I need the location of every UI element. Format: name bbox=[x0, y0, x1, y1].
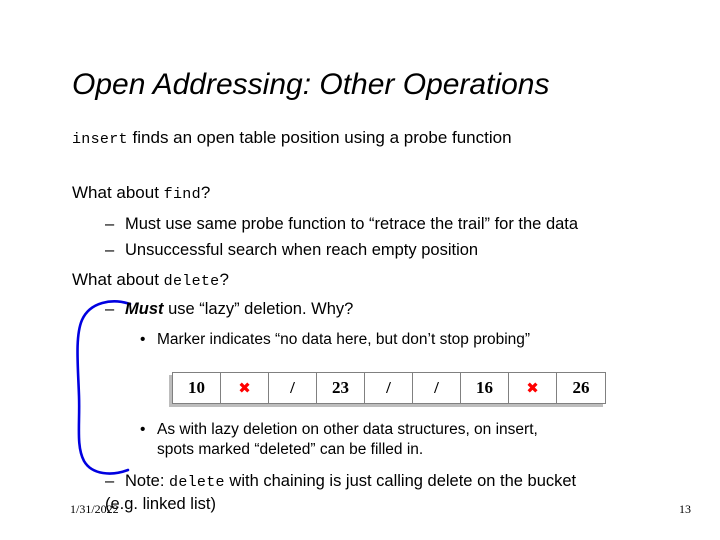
line-find-suffix: ? bbox=[201, 183, 210, 202]
hash-table-figure: 10 ✖ / 23 / / 16 ✖ 26 bbox=[172, 372, 606, 404]
page-title: Open Addressing: Other Operations bbox=[72, 68, 672, 103]
bullet-marker-indicates: •Marker indicates “no data here, but don… bbox=[140, 331, 530, 349]
bullet-must-lazy-deletion: –Must use “lazy” deletion. Why? bbox=[105, 300, 353, 319]
bullet-marker-indicates-text: Marker indicates “no data here, but don’… bbox=[157, 331, 530, 348]
line-insert: insert finds an open table position usin… bbox=[72, 128, 512, 149]
dash-icon: – bbox=[105, 215, 125, 234]
bullet-note-line2: (e.g. linked list) bbox=[105, 495, 216, 514]
bullet-note-line2-text: (e.g. linked list) bbox=[105, 495, 216, 513]
blue-bracket-annotation bbox=[72, 296, 142, 486]
bullet-lazy-line2-text: spots marked “deleted” can be filled in. bbox=[157, 441, 423, 458]
dash-icon: – bbox=[105, 300, 125, 319]
line-delete-suffix: ? bbox=[219, 270, 228, 289]
hash-cell-deleted-marker: ✖ bbox=[509, 373, 557, 403]
line-find-prefix: What about bbox=[72, 183, 164, 202]
bullet-dot-icon: • bbox=[140, 421, 157, 439]
code-find: find bbox=[164, 186, 201, 203]
code-delete-chaining: delete bbox=[169, 474, 225, 491]
emphasis-must: Must bbox=[125, 300, 164, 318]
bullet-note-suffix: with chaining is just calling delete on … bbox=[225, 472, 576, 490]
footer-date: 1/31/2022 bbox=[70, 502, 119, 517]
line-find: What about find? bbox=[72, 183, 210, 204]
bullet-note-chaining: –Note: delete with chaining is just call… bbox=[105, 472, 576, 492]
hash-cell: 16 bbox=[461, 373, 509, 403]
code-delete: delete bbox=[164, 273, 220, 290]
line-delete: What about delete? bbox=[72, 270, 229, 291]
bullet-lazy-line1: As with lazy deletion on other data stru… bbox=[157, 421, 538, 438]
bullet-dot-icon: • bbox=[140, 331, 157, 349]
hash-cell: / bbox=[365, 373, 413, 403]
line-insert-text: finds an open table position using a pro… bbox=[128, 128, 512, 147]
footer-page-number: 13 bbox=[679, 502, 691, 517]
bullet-lazy-line2: spots marked “deleted” can be filled in. bbox=[140, 441, 423, 459]
hash-cell-deleted-marker: ✖ bbox=[221, 373, 269, 403]
hash-cell: 26 bbox=[557, 373, 605, 403]
bullet-retrace-trail-text: Must use same probe function to “retrace… bbox=[125, 215, 578, 233]
bullet-unsuccessful-search: –Unsuccessful search when reach empty po… bbox=[105, 241, 478, 260]
hash-cell: / bbox=[413, 373, 461, 403]
hash-cell: 23 bbox=[317, 373, 365, 403]
code-insert: insert bbox=[72, 131, 128, 148]
bullet-lazy-deletion-insert: •As with lazy deletion on other data str… bbox=[140, 421, 538, 439]
hash-cell: / bbox=[269, 373, 317, 403]
bullet-must-text: use “lazy” deletion. Why? bbox=[164, 300, 354, 318]
bullet-retrace-trail: –Must use same probe function to “retrac… bbox=[105, 215, 578, 234]
slide: Open Addressing: Other Operations insert… bbox=[0, 0, 720, 540]
hash-cell: 10 bbox=[173, 373, 221, 403]
bullet-note-prefix: Note: bbox=[125, 472, 169, 490]
dash-icon: – bbox=[105, 472, 125, 491]
line-delete-prefix: What about bbox=[72, 270, 164, 289]
bullet-unsuccessful-search-text: Unsuccessful search when reach empty pos… bbox=[125, 241, 478, 259]
dash-icon: – bbox=[105, 241, 125, 260]
